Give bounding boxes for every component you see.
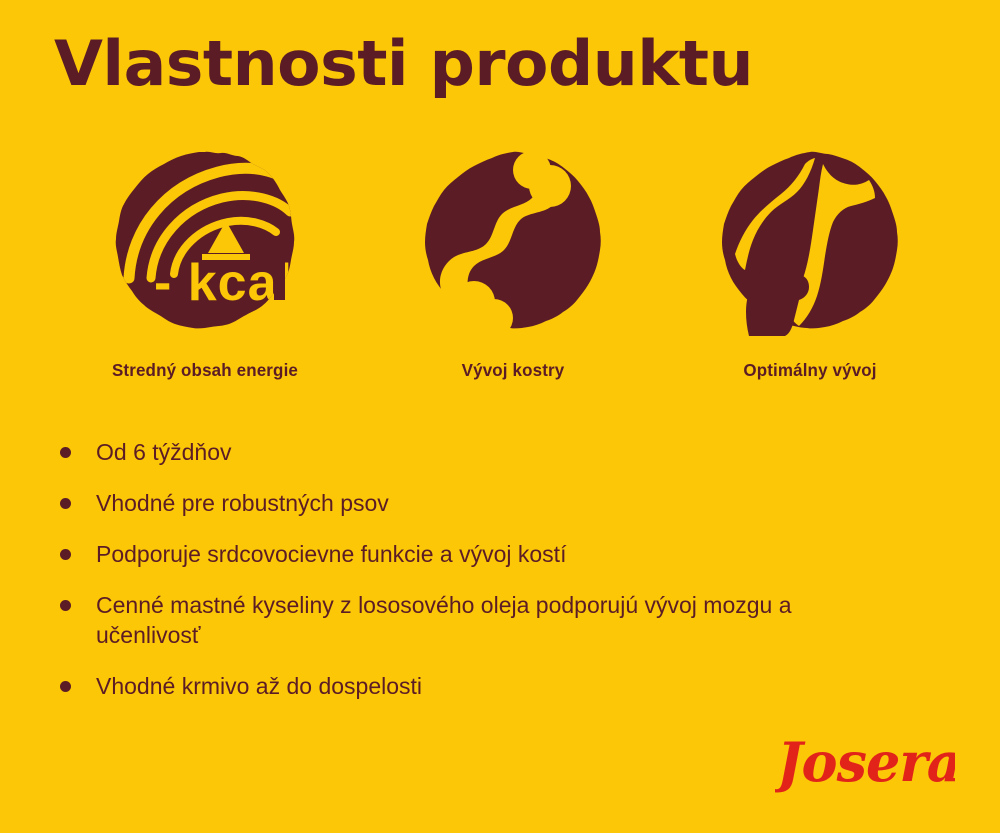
feature-item-bone: Vývoj kostry	[363, 150, 663, 381]
page-title: Vlastnosti produktu	[54, 33, 753, 95]
josera-logo: Josera	[775, 737, 955, 793]
bullet-dot-icon	[60, 498, 71, 509]
product-features-panel: Vlastnosti produktu	[0, 0, 1000, 833]
list-item-text: Vhodné krmivo až do dospelosti	[96, 673, 422, 699]
list-item-text: Podporuje srdcovocievne funkcie a vývoj …	[96, 541, 566, 567]
list-item: Vhodné krmivo až do dospelosti	[58, 671, 796, 701]
bone-circle-icon	[422, 150, 604, 338]
svg-text:- kcal: - kcal	[154, 254, 293, 312]
feature-label-energy: Stredný obsah energie	[60, 360, 351, 381]
josera-logo-text: Josera	[775, 737, 955, 793]
feature-label-bone: Vývoj kostry	[368, 360, 659, 381]
feature-icon-row: - kcal Stredný obsah energie	[0, 150, 1000, 400]
list-item: Podporuje srdcovocievne funkcie a vývoj …	[58, 539, 796, 569]
list-item: Vhodné pre robustných psov	[58, 488, 796, 518]
kcal-gauge-icon: - kcal	[114, 150, 296, 338]
list-item-text: Cenné mastné kyseliny z lososového oleja…	[96, 592, 792, 648]
bullet-dot-icon	[60, 681, 71, 692]
bullet-dot-icon	[60, 600, 71, 611]
bullet-dot-icon	[60, 549, 71, 560]
list-item: Cenné mastné kyseliny z lososového oleja…	[58, 590, 796, 650]
bullet-dot-icon	[60, 447, 71, 458]
feature-item-development: Optimálny vývoj	[660, 150, 960, 381]
list-item: Od 6 týždňov	[58, 437, 796, 467]
dog-and-puppy-icon	[719, 150, 901, 338]
feature-item-energy: - kcal Stredný obsah energie	[55, 150, 355, 381]
feature-label-development: Optimálny vývoj	[665, 360, 956, 381]
list-item-text: Od 6 týždňov	[96, 439, 232, 465]
product-benefits-list: Od 6 týždňov Vhodné pre robustných psov …	[58, 437, 888, 722]
list-item-text: Vhodné pre robustných psov	[96, 490, 389, 516]
